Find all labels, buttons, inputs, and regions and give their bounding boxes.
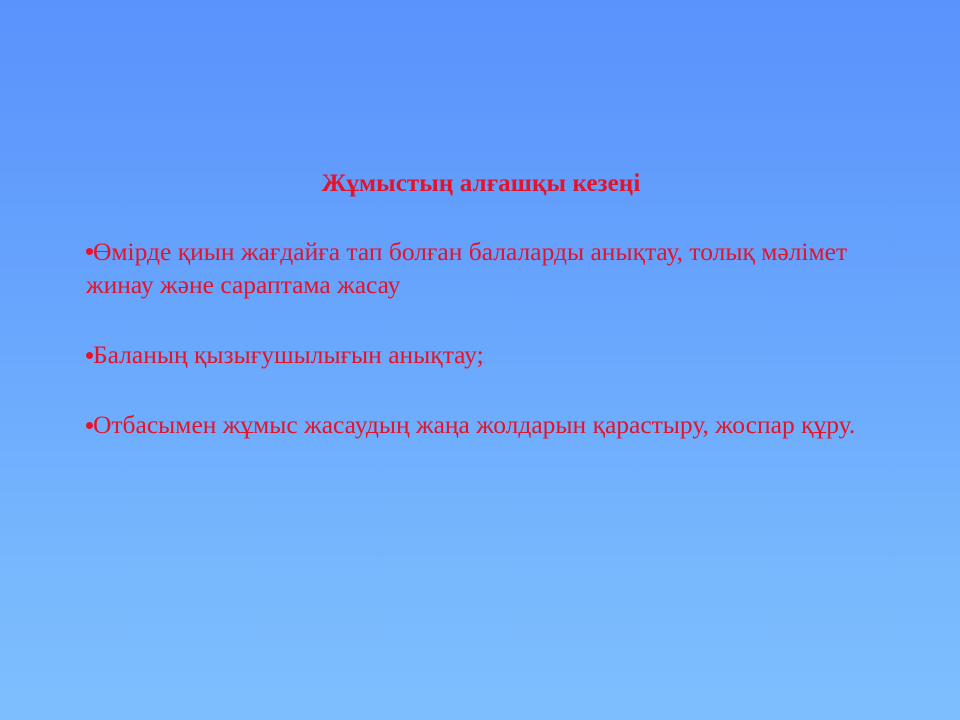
title-body-spacer [86,201,876,235]
list-item-text: Отбасымен жұмыс жасаудың жаңа жолдарын қ… [93,410,855,439]
bullet-spacer [86,302,876,338]
list-item: Баланың қызығушылығын анықтау; [86,338,876,372]
slide-title: Жұмыстың алғашқы кезеңі [86,168,876,201]
list-item: Отбасымен жұмыс жасаудың жаңа жолдарын қ… [86,408,876,442]
bullet-dot-icon [86,248,93,255]
list-item-text: Баланың қызығушылығын анықтау; [93,340,484,369]
bullet-dot-icon [86,352,93,359]
slide-canvas: Жұмыстың алғашқы кезеңі Өмірде қиын жағд… [0,0,960,720]
slide-content-block: Жұмыстың алғашқы кезеңі Өмірде қиын жағд… [86,168,876,442]
list-item: Өмірде қиын жағдайға тап болған балалард… [86,235,876,303]
list-item-text: Өмірде қиын жағдайға тап болған балалард… [86,237,847,300]
bullet-dot-icon [86,422,93,429]
bullet-spacer [86,372,876,408]
bullet-list: Өмірде қиын жағдайға тап болған балалард… [86,235,876,443]
